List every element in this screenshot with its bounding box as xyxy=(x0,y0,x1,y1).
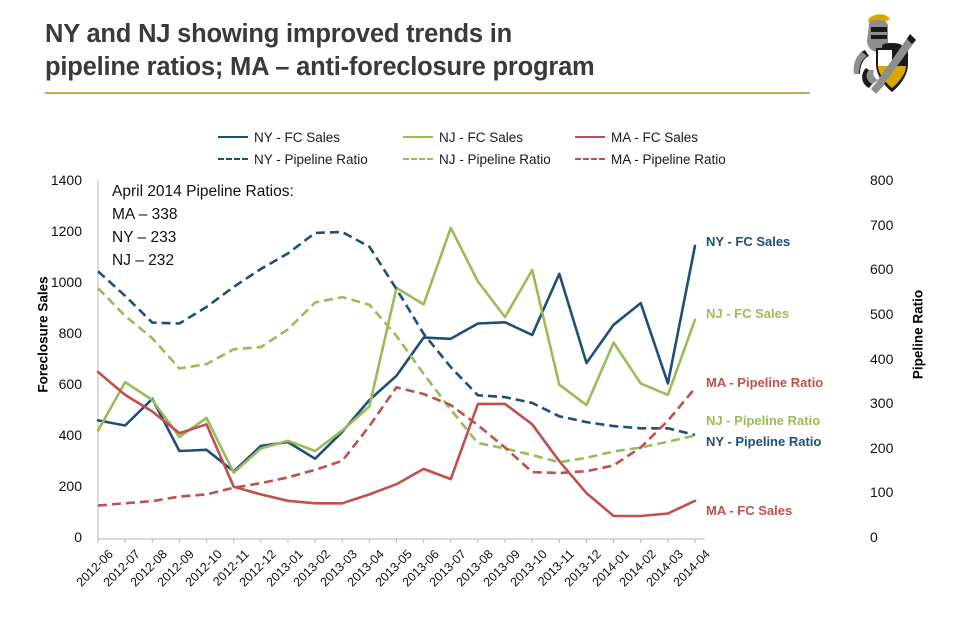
chart-page: NY and NJ showing improved trends in pip… xyxy=(0,0,955,634)
title-line-2: pipeline ratios; MA – anti-foreclosure p… xyxy=(45,51,805,84)
legend-swatch-nj-pipeline-ratio xyxy=(403,158,433,160)
y-tick-left-0: 0 xyxy=(28,529,82,545)
legend-item-nj-fc-sales[interactable]: NJ - FC Sales xyxy=(403,130,575,145)
y-tick-right-200: 200 xyxy=(870,440,924,456)
legend-label-ny-pipeline-ratio: NY - Pipeline Ratio xyxy=(254,152,368,167)
series-line-ma-pipeline-ratio xyxy=(98,387,695,505)
y-tick-right-300: 300 xyxy=(870,395,924,411)
y-tick-left-200: 200 xyxy=(28,478,82,494)
series-label-nj-fc-sales: NJ - FC Sales xyxy=(706,306,789,321)
y-tick-right-500: 500 xyxy=(870,306,924,322)
chart-plot-area xyxy=(0,0,955,634)
y-tick-right-700: 700 xyxy=(870,217,924,233)
annotation-heading: April 2014 Pipeline Ratios: xyxy=(112,180,294,203)
legend-label-nj-pipeline-ratio: NJ - Pipeline Ratio xyxy=(439,152,551,167)
legend-swatch-ny-pipeline-ratio xyxy=(218,158,248,160)
legend-label-ma-fc-sales: MA - FC Sales xyxy=(611,130,698,145)
series-line-ma-fc-sales xyxy=(98,372,695,516)
y-tick-left-600: 600 xyxy=(28,376,82,392)
legend-item-ny-pipeline-ratio[interactable]: NY - Pipeline Ratio xyxy=(218,152,403,167)
legend-label-ny-fc-sales: NY - FC Sales xyxy=(254,130,340,145)
series-line-nj-pipeline-ratio xyxy=(98,288,695,462)
y-axis-title-right: Pipeline Ratio xyxy=(911,255,926,415)
legend-row-1: NY - FC Sales NJ - FC Sales MA - FC Sale… xyxy=(218,126,748,148)
series-label-ny-pipeline-ratio: NY - Pipeline Ratio xyxy=(706,434,821,449)
page-title: NY and NJ showing improved trends in pip… xyxy=(45,18,805,84)
legend-label-ma-pipeline-ratio: MA - Pipeline Ratio xyxy=(611,152,726,167)
legend-swatch-ny-fc-sales xyxy=(218,136,248,138)
legend-swatch-ma-pipeline-ratio xyxy=(575,158,605,160)
knight-logo-icon xyxy=(838,8,934,96)
annotation-line-ny: NY – 233 xyxy=(112,226,294,249)
legend-row-2: NY - Pipeline Ratio NJ - Pipeline Ratio … xyxy=(218,148,748,170)
legend-label-nj-fc-sales: NJ - FC Sales xyxy=(439,130,523,145)
pipeline-ratio-annotation: April 2014 Pipeline Ratios: MA – 338 NY … xyxy=(112,180,294,272)
y-tick-left-800: 800 xyxy=(28,325,82,341)
legend-swatch-ma-fc-sales xyxy=(575,136,605,138)
y-tick-right-100: 100 xyxy=(870,484,924,500)
title-line-1: NY and NJ showing improved trends in xyxy=(45,18,805,51)
chart-legend: NY - FC Sales NJ - FC Sales MA - FC Sale… xyxy=(218,126,748,170)
annotation-line-ma: MA – 338 xyxy=(112,203,294,226)
y-tick-right-400: 400 xyxy=(870,351,924,367)
y-tick-left-1400: 1400 xyxy=(28,172,82,188)
series-label-ny-fc-sales: NY - FC Sales xyxy=(706,234,790,249)
legend-item-ny-fc-sales[interactable]: NY - FC Sales xyxy=(218,130,403,145)
series-label-ma-pipeline-ratio: MA - Pipeline Ratio xyxy=(706,375,823,390)
y-tick-right-600: 600 xyxy=(870,261,924,277)
series-label-nj-pipeline-ratio: NJ - Pipeline Ratio xyxy=(706,413,820,428)
knight-logo: ™ xyxy=(838,8,934,96)
title-underline-rule xyxy=(45,92,810,94)
legend-swatch-nj-fc-sales xyxy=(403,136,433,138)
y-tick-left-1000: 1000 xyxy=(28,274,82,290)
legend-item-ma-pipeline-ratio[interactable]: MA - Pipeline Ratio xyxy=(575,152,748,167)
annotation-line-nj: NJ – 232 xyxy=(112,249,294,272)
y-tick-left-400: 400 xyxy=(28,427,82,443)
legend-item-nj-pipeline-ratio[interactable]: NJ - Pipeline Ratio xyxy=(403,152,575,167)
legend-item-ma-fc-sales[interactable]: MA - FC Sales xyxy=(575,130,748,145)
y-tick-right-0: 0 xyxy=(870,529,924,545)
series-line-ny-fc-sales xyxy=(98,246,695,472)
y-tick-left-1200: 1200 xyxy=(28,223,82,239)
y-tick-right-800: 800 xyxy=(870,172,924,188)
series-label-ma-fc-sales: MA - FC Sales xyxy=(706,503,792,518)
